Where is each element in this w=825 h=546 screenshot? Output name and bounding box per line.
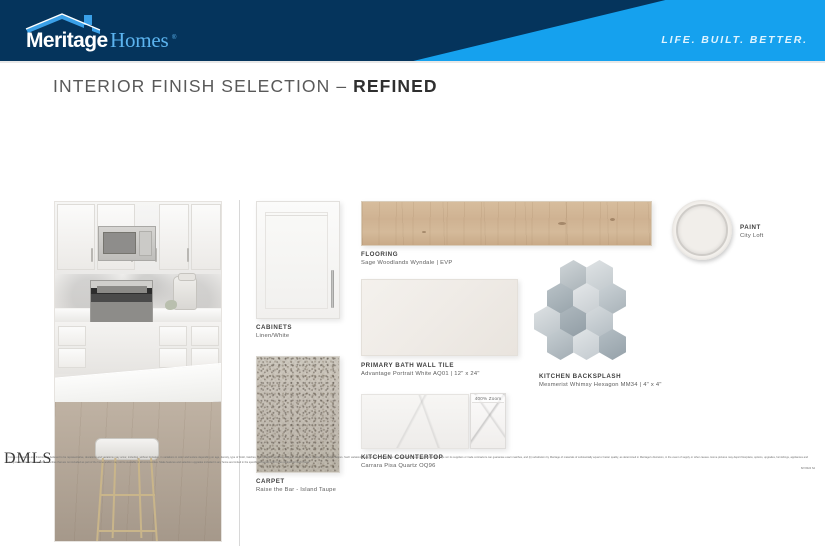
finish-board: CABINETS Linen/White CARPET Raise the Ba… xyxy=(0,96,825,451)
kitchen-photo xyxy=(54,201,222,542)
kitchen-countertop-swatch[interactable] xyxy=(361,394,469,449)
footer-doc-code: 8/7/2024 S4 xyxy=(801,467,815,470)
svg-text:Homes: Homes xyxy=(110,28,169,52)
column-divider xyxy=(239,200,240,546)
page-title-emphasis: REFINED xyxy=(353,76,438,96)
photo-greenery xyxy=(165,300,177,310)
primary-bath-wall-tile-detail: Advantage Portrait White AQ01 | 12" x 24… xyxy=(361,370,480,379)
cabinets-label: CABINETS xyxy=(256,323,292,332)
flooring-detail: Sage Woodlands Wyndale | EVP xyxy=(361,259,453,268)
carpet-detail: Raise the Bar - Island Taupe xyxy=(256,486,336,495)
zoom-badge: 400% Zoom xyxy=(472,395,504,403)
svg-text:Meritage: Meritage xyxy=(26,29,108,52)
dmls-logo: DMLS xyxy=(4,450,52,468)
paint-detail: City Loft xyxy=(740,232,764,241)
primary-bath-wall-tile-swatch[interactable] xyxy=(361,279,518,356)
page-title: INTERIOR FINISH SELECTION – REFINED xyxy=(53,76,438,97)
primary-bath-wall-tile-label: PRIMARY BATH WALL TILE xyxy=(361,361,480,370)
kitchen-backsplash-label: KITCHEN BACKSPLASH xyxy=(539,372,662,381)
header-tagline: LIFE. BUILT. BETTER. xyxy=(661,34,808,46)
footer-disclaimer: Colors of materials and finishes are bel… xyxy=(8,456,808,465)
page-title-prefix: INTERIOR FINISH SELECTION – xyxy=(53,76,353,96)
header-bottom-rule xyxy=(0,61,825,63)
flooring-caption: FLOORING Sage Woodlands Wyndale | EVP xyxy=(361,250,453,268)
footer: Colors of materials and finishes are bel… xyxy=(0,450,825,483)
cabinet-pull-handle xyxy=(331,270,334,308)
photo-microwave xyxy=(98,226,156,261)
paint-swatch[interactable] xyxy=(672,200,732,260)
paint-label: PAINT xyxy=(740,223,764,232)
cabinets-caption: CABINETS Linen/White xyxy=(256,323,292,341)
kitchen-backsplash-swatch[interactable] xyxy=(534,260,634,360)
flooring-label: FLOORING xyxy=(361,250,453,259)
flooring-swatch[interactable] xyxy=(361,201,652,246)
kitchen-backsplash-detail: Mesmerist Whimsy Hexagon MM34 | 4" x 4" xyxy=(539,381,662,390)
kitchen-backsplash-caption: KITCHEN BACKSPLASH Mesmerist Whimsy Hexa… xyxy=(539,372,662,390)
header-diagonal-accent xyxy=(405,0,825,63)
cabinets-swatch[interactable] xyxy=(256,201,340,319)
kitchen-countertop-zoom-swatch[interactable]: 400% Zoom xyxy=(470,393,506,449)
paint-caption: PAINT City Loft xyxy=(740,223,764,241)
primary-bath-wall-tile-caption: PRIMARY BATH WALL TILE Advantage Portrai… xyxy=(361,361,480,379)
site-header: Meritage Homes ® LIFE. BUILT. BETTER. xyxy=(0,0,825,63)
svg-text:®: ® xyxy=(172,34,177,41)
cabinets-detail: Linen/White xyxy=(256,332,292,341)
meritage-homes-logo: Meritage Homes ® xyxy=(22,13,232,53)
